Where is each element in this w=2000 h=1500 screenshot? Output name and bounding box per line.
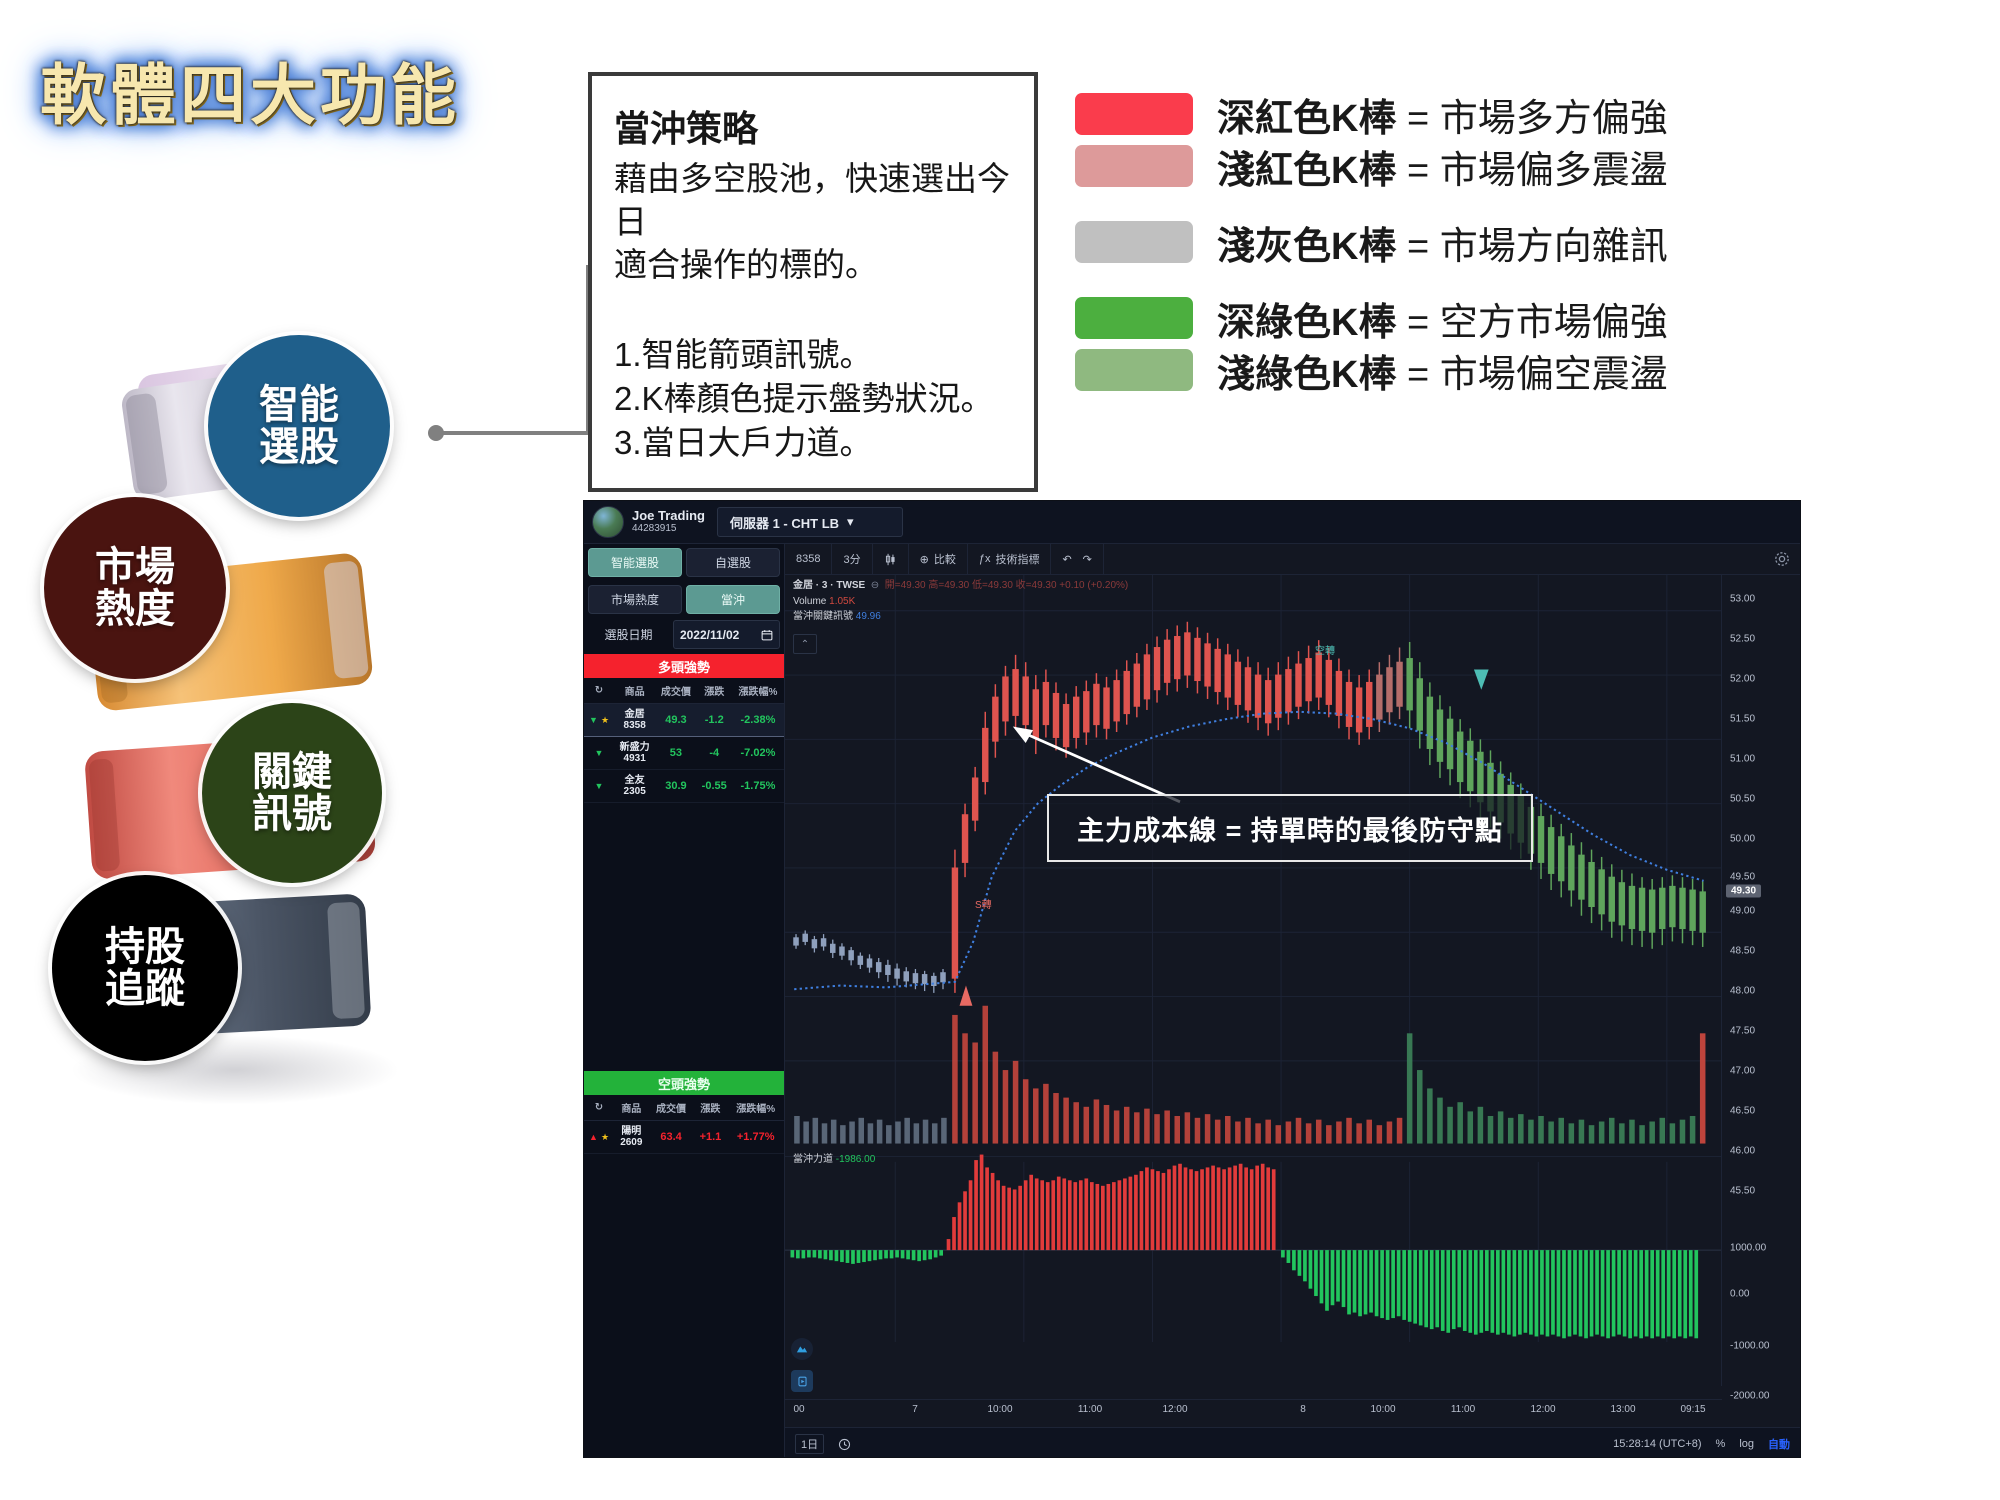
row-code: 2305 [616, 786, 653, 797]
price-tick: 51.50 [1730, 714, 1755, 725]
legend-equals: = [1407, 150, 1429, 192]
bubble-smart-pick[interactable]: 智能 選股 [208, 335, 390, 517]
strategy-item-1: 1.智能箭頭訊號。 [614, 333, 1012, 377]
replay-toggle-button[interactable] [791, 1370, 813, 1392]
price-tick: 49.50 [1730, 872, 1755, 883]
account-name: Joe Trading [632, 509, 705, 523]
row-change: +1.1 [693, 1121, 727, 1154]
legend-row: 淺灰色K棒 = 市場方向雜訊 [1075, 216, 1975, 268]
row-price: 63.4 [649, 1121, 694, 1154]
indicator-label: 當沖力道 [793, 1154, 833, 1165]
col-price: 成交價 [655, 678, 696, 704]
indicator-tick: 1000.00 [1730, 1243, 1766, 1254]
legend-swatch-deep-red [1075, 93, 1193, 135]
col-change-pct: 漲跌幅% [727, 1095, 784, 1121]
bubble-key-signal[interactable]: 關鍵 訊號 [202, 703, 382, 883]
legend-equals: = [1407, 226, 1429, 268]
price-tick: 48.00 [1730, 986, 1755, 997]
current-price-badge: 49.30 [1726, 885, 1761, 898]
row-change-pct: -1.75% [732, 770, 784, 803]
interval-button[interactable]: 3分 [832, 544, 872, 574]
row-name: 金居 [616, 709, 653, 720]
price-tick: 46.00 [1730, 1146, 1755, 1157]
row-change-pct: -2.38% [732, 704, 784, 737]
date-filter-label: 選股日期 [588, 621, 669, 648]
legend-row: 深綠色K棒 = 空方市場偏強 [1075, 292, 1975, 344]
legend-row: 深紅色K棒 = 市場多方偏強 [1075, 88, 1975, 140]
time-tick: 12:00 [1530, 1404, 1555, 1415]
price-tick: 49.00 [1730, 906, 1755, 917]
price-tick: 46.50 [1730, 1106, 1755, 1117]
tab-smart-pick[interactable]: 智能選股 [588, 548, 682, 577]
bubble-label-line2: 熱度 [95, 588, 175, 630]
chart-symbol-line: 金居 · 3 · TWSE [793, 580, 865, 591]
long-strength-banner: 多頭強勢 [584, 654, 784, 678]
price-tick: 47.50 [1730, 1026, 1755, 1037]
chart-legend: 金居 · 3 · TWSE ⊖ 開=49.30 高=49.30 低=49.30 … [793, 578, 1128, 625]
indicator-value: -1986.00 [836, 1154, 875, 1165]
gear-icon [1772, 549, 1792, 569]
time-tick: 00 [793, 1404, 804, 1415]
compare-button[interactable]: ⊕ 比較 [909, 544, 968, 574]
legend-meaning: 市場偏多震盪 [1440, 150, 1668, 192]
redo-icon[interactable]: ↷ [1083, 553, 1092, 566]
direction-icon: ▼ [595, 748, 604, 758]
bubble-label-line1: 市場 [95, 546, 175, 588]
bubble-label-line1: 智能 [259, 384, 339, 426]
table-row[interactable]: ▲ ★ 陽明 2609 63.4 +1.1 +1.77% [584, 1121, 784, 1154]
legend-spacer [1075, 268, 1975, 292]
col-symbol: 商品 [614, 1095, 649, 1121]
candle-color-legend: 深紅色K棒 = 市場多方偏強 淺紅色K棒 = 市場偏多震盪 淺灰色K棒 = 市場… [1075, 88, 1975, 396]
bubble-market-heat[interactable]: 市場 熱度 [44, 497, 226, 679]
legend-meaning: 市場方向雜訊 [1440, 226, 1668, 268]
compare-icon: ⊕ [920, 553, 929, 566]
strategy-item-2: 2.K棒顏色提示盤勢狀況。 [614, 377, 1012, 421]
legend-equals: = [1407, 354, 1429, 396]
table-row[interactable]: ▼ ★ 金居 8358 49.3 -1.2 -2.38% [584, 704, 784, 737]
time-tick: 8 [1300, 1404, 1306, 1415]
row-code: 8358 [616, 720, 653, 731]
tab-daytrade[interactable]: 當沖 [686, 585, 780, 614]
row-name: 陽明 [616, 1126, 647, 1137]
price-tick: 52.00 [1730, 674, 1755, 685]
bubble-label-line1: 關鍵 [252, 751, 332, 793]
legend-swatch-light-gray [1075, 221, 1193, 263]
row-price: 49.3 [655, 704, 696, 737]
row-change: -1.2 [697, 704, 732, 737]
calendar-icon [761, 629, 773, 641]
table-row[interactable]: ▼ 全友 2305 30.9 -0.55 -1.75% [584, 770, 784, 803]
row-price: 53 [655, 737, 696, 770]
undo-icon[interactable]: ↶ [1062, 553, 1071, 566]
indicator-tick: -2000.00 [1730, 1391, 1769, 1402]
date-filter-row: 選股日期 2022/11/02 [584, 618, 784, 654]
bubble-holdings[interactable]: 持股 追蹤 [52, 875, 238, 1061]
legend-swatch-light-red [1075, 145, 1193, 187]
clock-icon[interactable] [838, 1438, 851, 1451]
bubble-label-line2: 選股 [259, 426, 339, 468]
strategy-item-3: 3.當日大戶力道。 [614, 421, 1012, 465]
stock-picker-panel: 智能選股 自選股 市場熱度 當沖 選股日期 2022/11/02 [584, 544, 785, 1458]
legend-label: 淺綠色K棒 [1217, 354, 1396, 396]
indicator-axis[interactable]: 1000.00 0.00 -1000.00 -2000.00 -3000.00 [1722, 1234, 1800, 1414]
indicator-tick: 0.00 [1730, 1289, 1749, 1300]
long-entry-label: S轉 [975, 896, 992, 911]
price-tick: 47.00 [1730, 1066, 1755, 1077]
table-header-row: ↻ 商品 成交價 漲跌 漲跌幅% [584, 678, 784, 704]
volume-value: 1.05K [829, 596, 855, 607]
col-change-pct: 漲跌幅% [732, 678, 784, 704]
row-name: 全友 [616, 775, 653, 786]
time-axis[interactable]: 00 7 10:00 11:00 12:00 8 10:00 11:00 12:… [785, 1399, 1722, 1420]
bubble-label-line2: 追蹤 [105, 968, 185, 1010]
daytrade-force-histogram [791, 1155, 1699, 1339]
range-button[interactable]: 1日 [795, 1434, 824, 1454]
price-tick: 48.50 [1730, 946, 1755, 957]
row-price: 30.9 [655, 770, 696, 803]
price-tick: 50.00 [1730, 834, 1755, 845]
legend-equals: = [1407, 98, 1429, 140]
cost-line-annotation: 主力成本線 = 持單時的最後防守點 [1047, 794, 1533, 862]
chevron-up-icon: ⌃ [801, 639, 809, 650]
price-tick: 50.50 [1730, 794, 1755, 805]
indicator-tick: -1000.00 [1730, 1341, 1769, 1352]
legend-swatch-deep-green [1075, 297, 1193, 339]
table-row[interactable]: ▼ 新盛力 4931 53 -4 -7.02% [584, 737, 784, 770]
col-symbol: 商品 [614, 678, 655, 704]
long-list-empty-space [584, 803, 784, 1071]
server-label: 伺服器 1 - CHT LB [730, 513, 839, 532]
legend-label: 淺灰色K棒 [1217, 226, 1396, 268]
replay-icon [797, 1376, 808, 1387]
tab-watchlist[interactable]: 自選股 [686, 548, 780, 577]
legend-swatch-light-green [1075, 349, 1193, 391]
tab-row-secondary: 市場熱度 當沖 [584, 581, 784, 618]
trading-app-window: Joe Trading 44283915 伺服器 1 - CHT LB ▾ 智能… [583, 500, 1801, 1458]
time-tick: 11:00 [1451, 1404, 1475, 1415]
row-change: -4 [697, 737, 732, 770]
signal-label: 當沖關鍵訊號 [793, 611, 853, 622]
chart-type-button[interactable] [873, 544, 909, 574]
refresh-icon[interactable]: ↻ [584, 678, 614, 704]
col-change: 漲跌 [697, 678, 732, 704]
row-code: 2609 [616, 1137, 647, 1148]
chart-settings-button[interactable] [1772, 549, 1792, 569]
date-filter-value: 2022/11/02 [680, 628, 739, 642]
avatar [592, 506, 624, 538]
toolbar-spacer [1104, 544, 1800, 574]
direction-icon: ▼ [595, 781, 604, 791]
signal-value: 49.96 [856, 611, 881, 622]
short-strength-table: ↻ 商品 成交價 漲跌 漲跌幅% ▲ ★ 陽明 2609 [584, 1095, 784, 1154]
legend-label: 淺紅色K棒 [1217, 150, 1396, 192]
direction-icon: ▼ [589, 715, 598, 725]
annotation-arrow [1013, 726, 1180, 801]
direction-icon: ▲ [589, 1132, 598, 1142]
col-change: 漲跌 [693, 1095, 727, 1121]
legend-row: 淺紅色K棒 = 市場偏多震盪 [1075, 140, 1975, 192]
strategy-callout: 當沖策略 藉由多空股池，快速選出今日 適合操作的標的。 1.智能箭頭訊號。 2.… [588, 72, 1038, 492]
time-tick: 11:00 [1078, 1404, 1102, 1415]
symbol-button[interactable]: 8358 [785, 544, 832, 574]
legend-row: 淺綠色K棒 = 市場偏空震盪 [1075, 344, 1975, 396]
date-filter-input[interactable]: 2022/11/02 [673, 620, 780, 649]
chevron-down-icon: ▾ [847, 514, 854, 530]
auto-scale-button[interactable]: 自動 [1768, 1436, 1790, 1452]
time-tick: 12:00 [1162, 1404, 1187, 1415]
candlestick-icon [884, 553, 897, 566]
time-tick: 13:00 [1610, 1404, 1635, 1415]
strategy-body-line1: 藉由多空股池，快速選出今日 [614, 158, 1012, 244]
refresh-icon[interactable]: ↻ [584, 1095, 614, 1121]
row-change: -0.55 [697, 770, 732, 803]
short-entry-marker [1474, 670, 1489, 690]
collapse-pane-button[interactable]: ⌃ [793, 634, 817, 654]
legend-label: 深紅色K棒 [1217, 98, 1396, 140]
volume-bars [794, 1006, 1705, 1144]
undo-redo-group[interactable]: ↶ ↷ [1051, 544, 1103, 574]
time-tick: 10:00 [987, 1404, 1012, 1415]
tab-row-primary: 智能選股 自選股 [584, 544, 784, 581]
legend-spacer [1075, 192, 1975, 216]
short-entry-label: 空轉 [1315, 642, 1335, 657]
server-select[interactable]: 伺服器 1 - CHT LB ▾ [717, 507, 903, 537]
indicators-label: 技術指標 [995, 551, 1039, 567]
time-tick: 10:00 [1370, 1404, 1395, 1415]
col-price: 成交價 [649, 1095, 694, 1121]
price-tick: 51.00 [1730, 754, 1755, 765]
row-change-pct: -7.02% [732, 737, 784, 770]
chart-style-toggle-button[interactable] [791, 1338, 813, 1360]
chart-status-bar: 1日 15:28:14 (UTC+8) % log 自動 [785, 1427, 1800, 1458]
strategy-heading: 當沖策略 [614, 100, 1012, 152]
strategy-body-line2: 適合操作的標的。 [614, 244, 1012, 287]
clock-time: 15:28:14 (UTC+8) [1613, 1438, 1701, 1450]
time-tick: 09:15 [1680, 1404, 1705, 1415]
legend-label: 深綠色K棒 [1217, 302, 1396, 344]
compare-label: 比較 [934, 551, 956, 567]
row-change-pct: +1.77% [727, 1121, 784, 1154]
mountain-icon [796, 1343, 808, 1355]
long-strength-table: ↻ 商品 成交價 漲跌 漲跌幅% ▼ ★ 金居 8358 [584, 678, 784, 803]
indicator-panel-legend: 當沖力道 -1986.00 [793, 1150, 875, 1165]
table-header-row: ↻ 商品 成交價 漲跌 漲跌幅% [584, 1095, 784, 1121]
legend-meaning: 空方市場偏強 [1440, 302, 1668, 344]
chart-ohlc: 開=49.30 高=49.30 低=49.30 收=49.30 +0.10 (+… [885, 580, 1129, 591]
account-id: 44283915 [632, 523, 705, 535]
chart-panel: 8358 3分 ⊕ 比較 [785, 544, 1800, 1458]
slide-root: 軟體四大功能 [0, 0, 2000, 1500]
tab-market-heat[interactable]: 市場熱度 [588, 585, 682, 614]
legend-equals: = [1407, 302, 1429, 344]
star-icon[interactable]: ★ [601, 1132, 609, 1142]
log-scale-button[interactable]: log [1739, 1438, 1754, 1450]
price-tick: 45.50 [1730, 1186, 1755, 1197]
price-chart-canvas [785, 574, 1722, 1342]
chart-toolbar: 8358 3分 ⊕ 比較 [785, 544, 1800, 575]
app-body: 智能選股 自選股 市場熱度 當沖 選股日期 2022/11/02 [584, 544, 1800, 1458]
bubble-label-line1: 持股 [105, 926, 185, 968]
function-icon: ƒx [979, 553, 991, 565]
row-name: 新盛力 [616, 742, 653, 753]
bubble-label-line2: 訊號 [252, 793, 332, 835]
four-functions-graphic: 智能 選股 市場 熱度 關鍵 訊號 持股 追蹤 [30, 335, 450, 1125]
long-entry-marker [960, 986, 973, 1006]
indicators-button[interactable]: ƒx 技術指標 [968, 544, 1052, 574]
row-code: 4931 [616, 753, 653, 764]
short-strength-banner: 空頭強勢 [584, 1071, 784, 1095]
time-tick: 7 [912, 1404, 918, 1415]
volume-label: Volume [793, 596, 826, 607]
legend-meaning: 市場多方偏強 [1440, 98, 1668, 140]
percent-scale-button[interactable]: % [1716, 1438, 1726, 1450]
account-bar: Joe Trading 44283915 伺服器 1 - CHT LB ▾ [584, 501, 1800, 544]
star-icon[interactable]: ★ [601, 715, 609, 725]
page-title: 軟體四大功能 [40, 42, 460, 138]
legend-meaning: 市場偏空震盪 [1440, 354, 1668, 396]
price-tick: 52.50 [1730, 634, 1755, 645]
price-tick: 53.00 [1730, 594, 1755, 605]
